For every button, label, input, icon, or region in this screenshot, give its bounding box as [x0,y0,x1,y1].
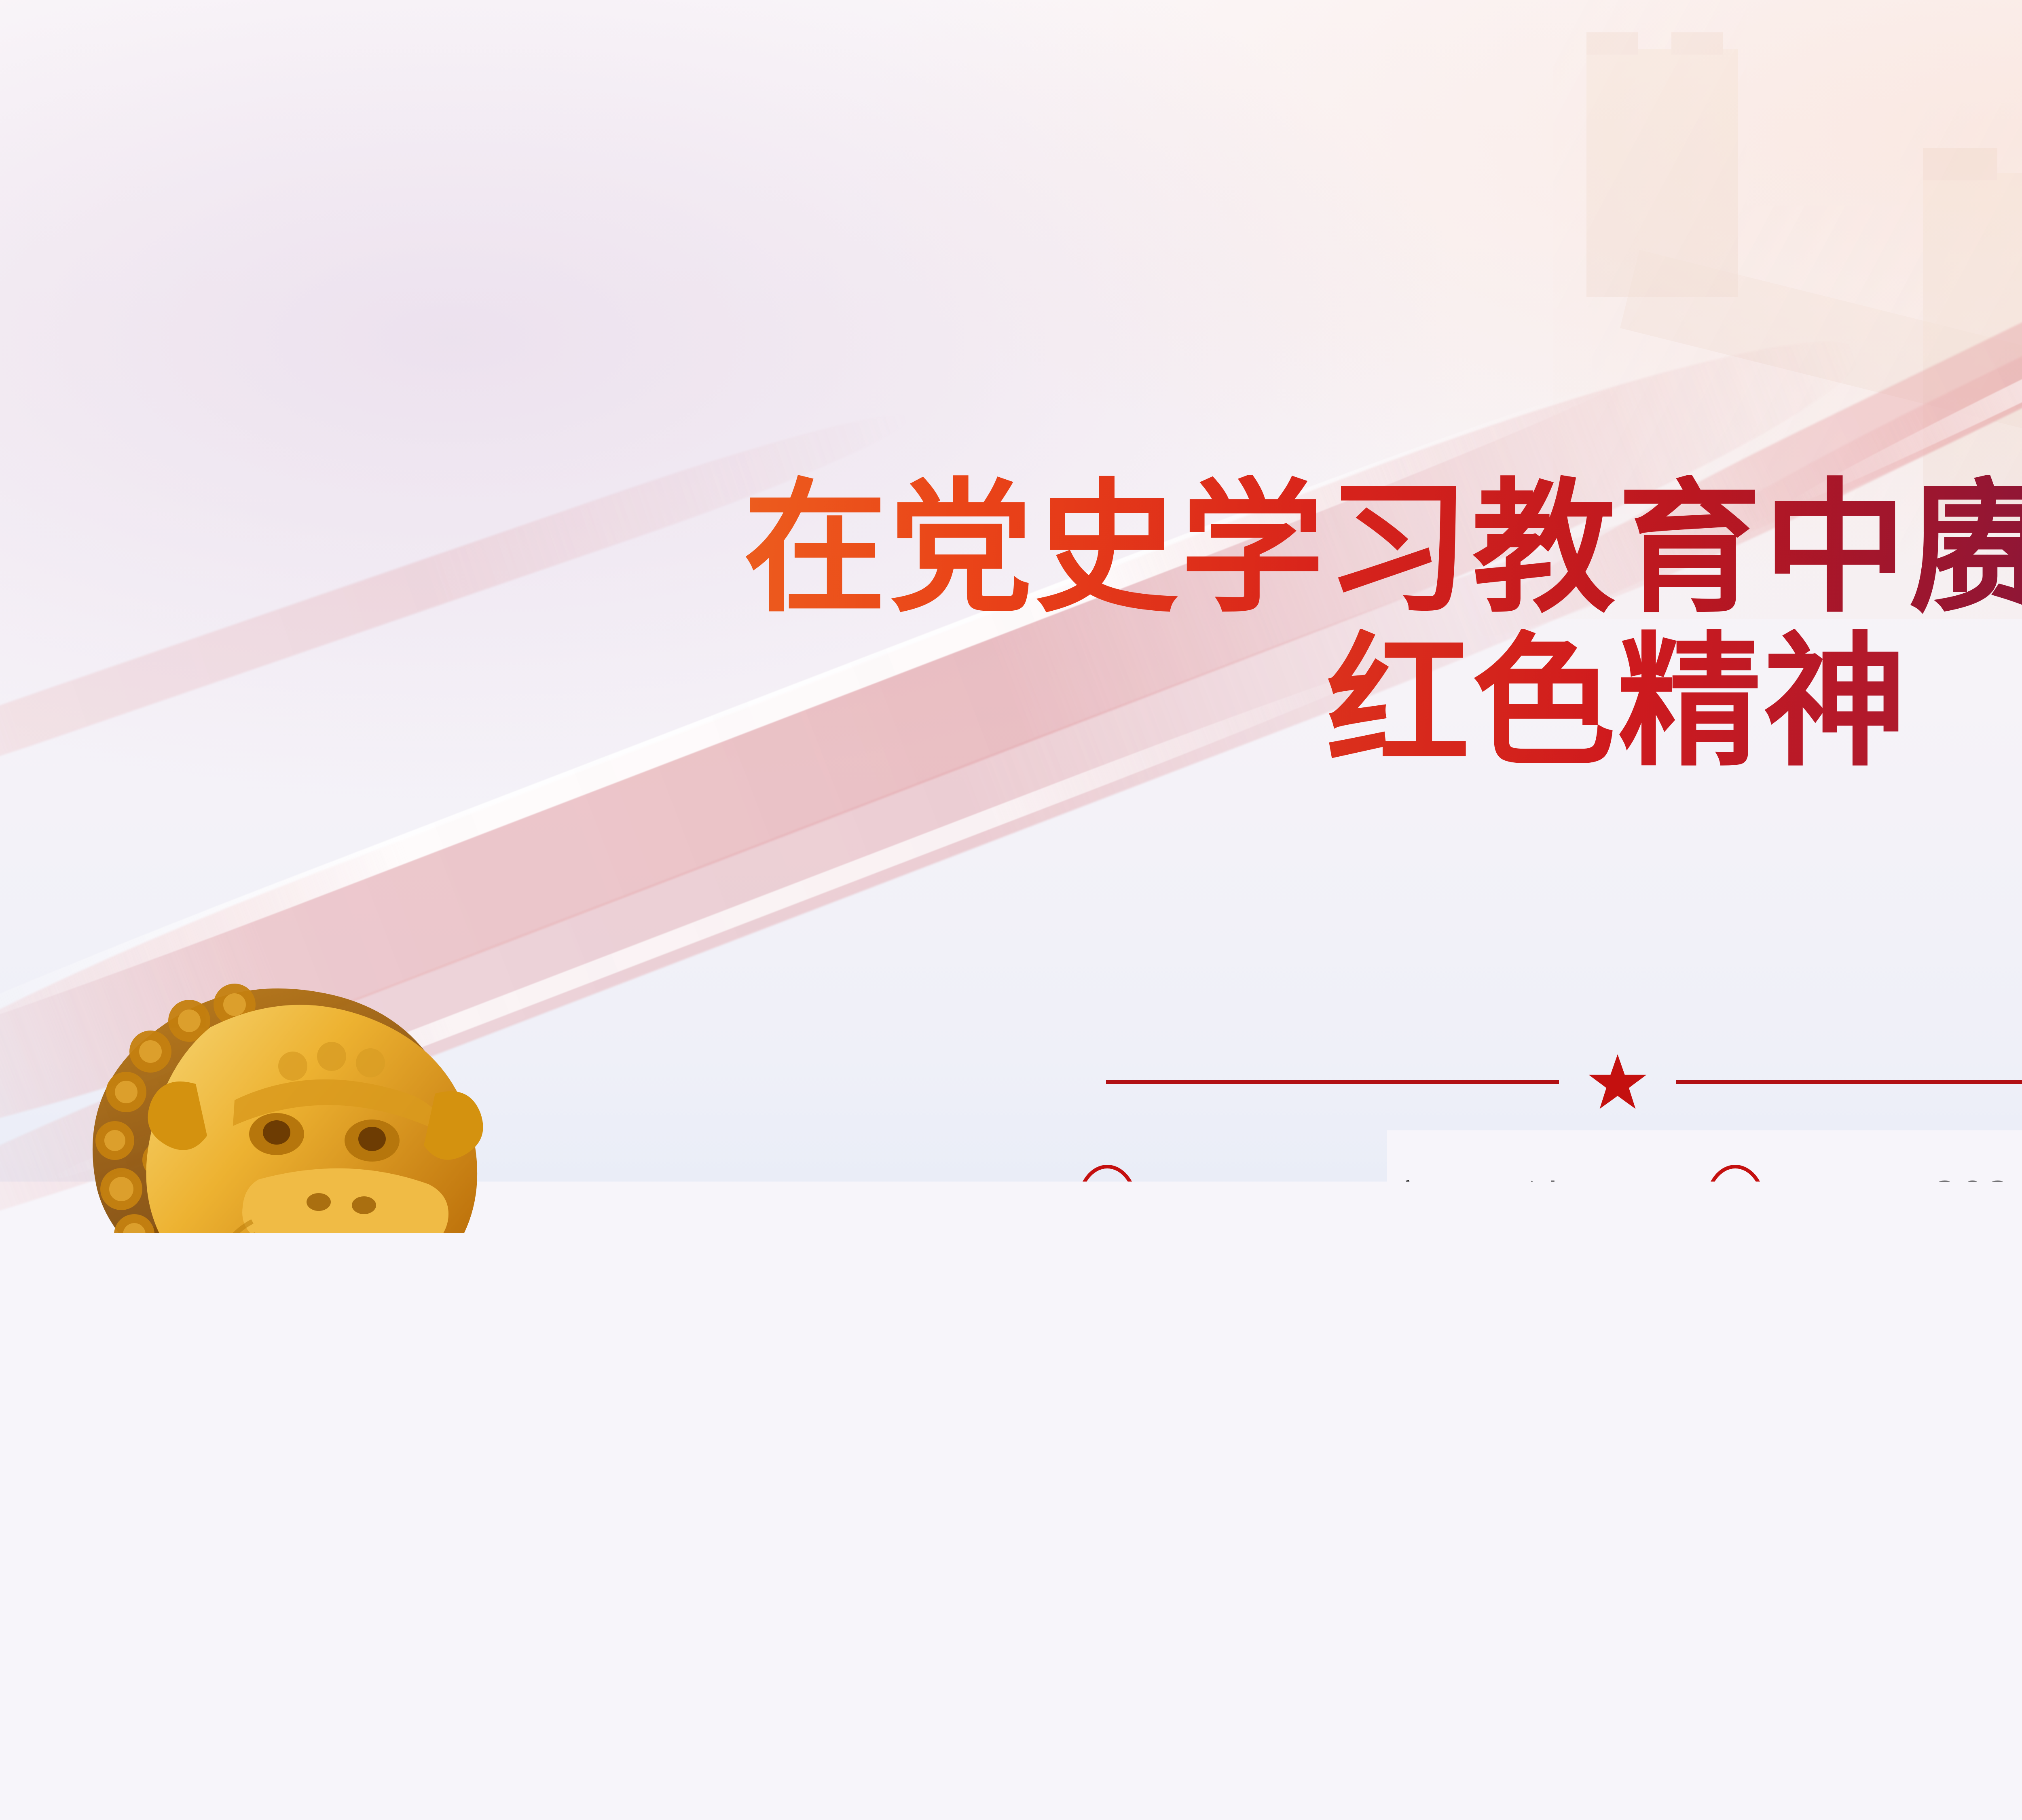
date-label: 时间： [1789,1175,1914,1235]
title-block: 在党史学习教育中赓续传承 红色精神 [0,475,2022,775]
presenter-value: 王宝元 王浩 [1334,1167,1580,1242]
five-pointed-star-icon [1587,1052,1648,1112]
chinese-guardian-lion-statue [0,882,623,1820]
date-value: 2024/9/26 [1920,1173,2022,1237]
divider-line-right [1676,1080,2022,1084]
divider [0,1052,2022,1112]
divider-line-left [1106,1080,1559,1084]
presenter-item: 汇报人： 王宝元 王浩 [1077,1165,1580,1245]
meta-row: 汇报人： 王宝元 王浩 时间： 2024/9/26 [0,1165,2022,1245]
calendar-clock-icon [1705,1165,1766,1245]
date-item: 时间： 2024/9/26 [1705,1165,2022,1245]
person-badge-icon [1077,1165,1138,1245]
title-line-1: 在党史学习教育中赓续传承 [0,475,2022,622]
cover-slide: 在党史学习教育中赓续传承 红色精神 汇报人： 王宝元 王浩 [0,0,2022,1820]
presenter-label: 汇报人： [1161,1175,1328,1235]
title-line-2: 红色精神 [0,629,2022,775]
